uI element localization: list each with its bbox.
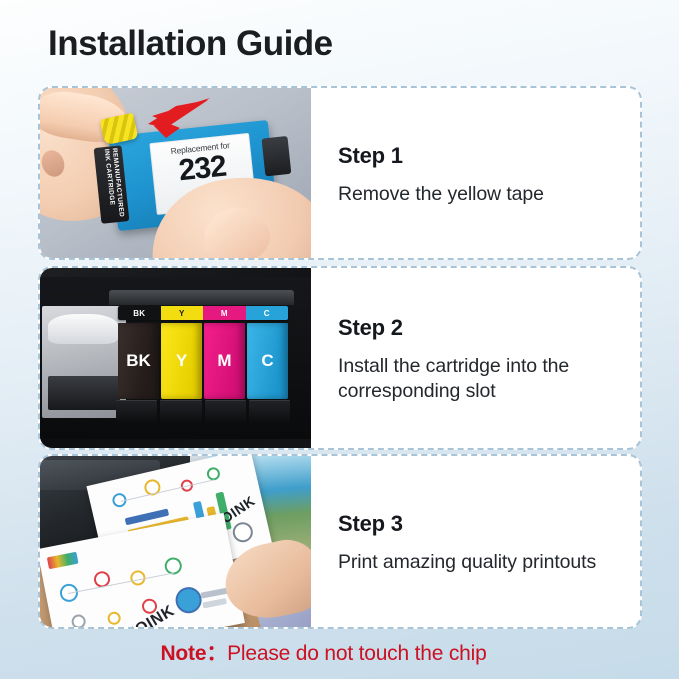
step-2-photo: BK Y M C BK Y M C	[40, 268, 311, 448]
step-2-text: Step 2 Install the cartridge into the co…	[311, 268, 640, 448]
strip-label-bk: BK	[118, 306, 161, 320]
step-3-photo: TOKYOINK TOKYOINK	[40, 456, 311, 627]
note-line: Note：Please do not touch the chip	[0, 637, 679, 667]
installed-cartridges: BK Y M C	[118, 323, 288, 399]
step-3-heading: Step 3	[338, 511, 640, 537]
paper-roller	[48, 314, 118, 344]
note-text: Please do not touch the chip	[227, 642, 486, 665]
step-1-description: Remove the yellow tape	[338, 182, 618, 207]
cartridge-cyan: C	[247, 323, 288, 399]
note-separator: ：	[206, 642, 227, 665]
step-panel-1: REMANUFACTURED INK CARTRIDGE Replacement…	[38, 86, 642, 260]
red-arrow-icon	[136, 94, 214, 150]
step-1-heading: Step 1	[338, 143, 640, 169]
cartridge-yellow: Y	[161, 323, 202, 399]
step-panel-2: BK Y M C BK Y M C Step 2 Install the car…	[38, 266, 642, 450]
cartridge-magenta: M	[204, 323, 245, 399]
carriage-hood	[109, 290, 294, 305]
cartridge-carriage: BK Y M C BK Y M C	[112, 290, 294, 428]
cartridge-slots	[116, 400, 290, 424]
color-code-strip: BK Y M C	[118, 306, 288, 320]
page-title: Installation Guide	[48, 26, 333, 61]
strip-label-y: Y	[161, 306, 204, 320]
step-panel-3: TOKYOINK TOKYOINK Step 3 Print amazing q…	[38, 454, 642, 629]
step-2-description: Install the cartridge into the correspon…	[338, 354, 618, 404]
step-1-text: Step 1 Remove the yellow tape	[311, 88, 640, 258]
slot-4	[249, 400, 290, 424]
step-3-text: Step 3 Print amazing quality printouts	[311, 456, 640, 627]
step-3-description: Print amazing quality printouts	[338, 550, 618, 575]
sheet-bottom-brand: TOKYOINK	[93, 602, 179, 627]
cartridge-black: BK	[118, 323, 159, 399]
cartridge-chip-housing	[262, 136, 292, 177]
note-label: Note	[160, 642, 206, 665]
strip-label-m: M	[203, 306, 246, 320]
strip-label-c: C	[246, 306, 289, 320]
slot-2	[160, 400, 201, 424]
slot-1	[116, 400, 157, 424]
step-1-photo: REMANUFACTURED INK CARTRIDGE Replacement…	[40, 88, 311, 258]
slot-3	[205, 400, 246, 424]
step-2-heading: Step 2	[338, 315, 640, 341]
